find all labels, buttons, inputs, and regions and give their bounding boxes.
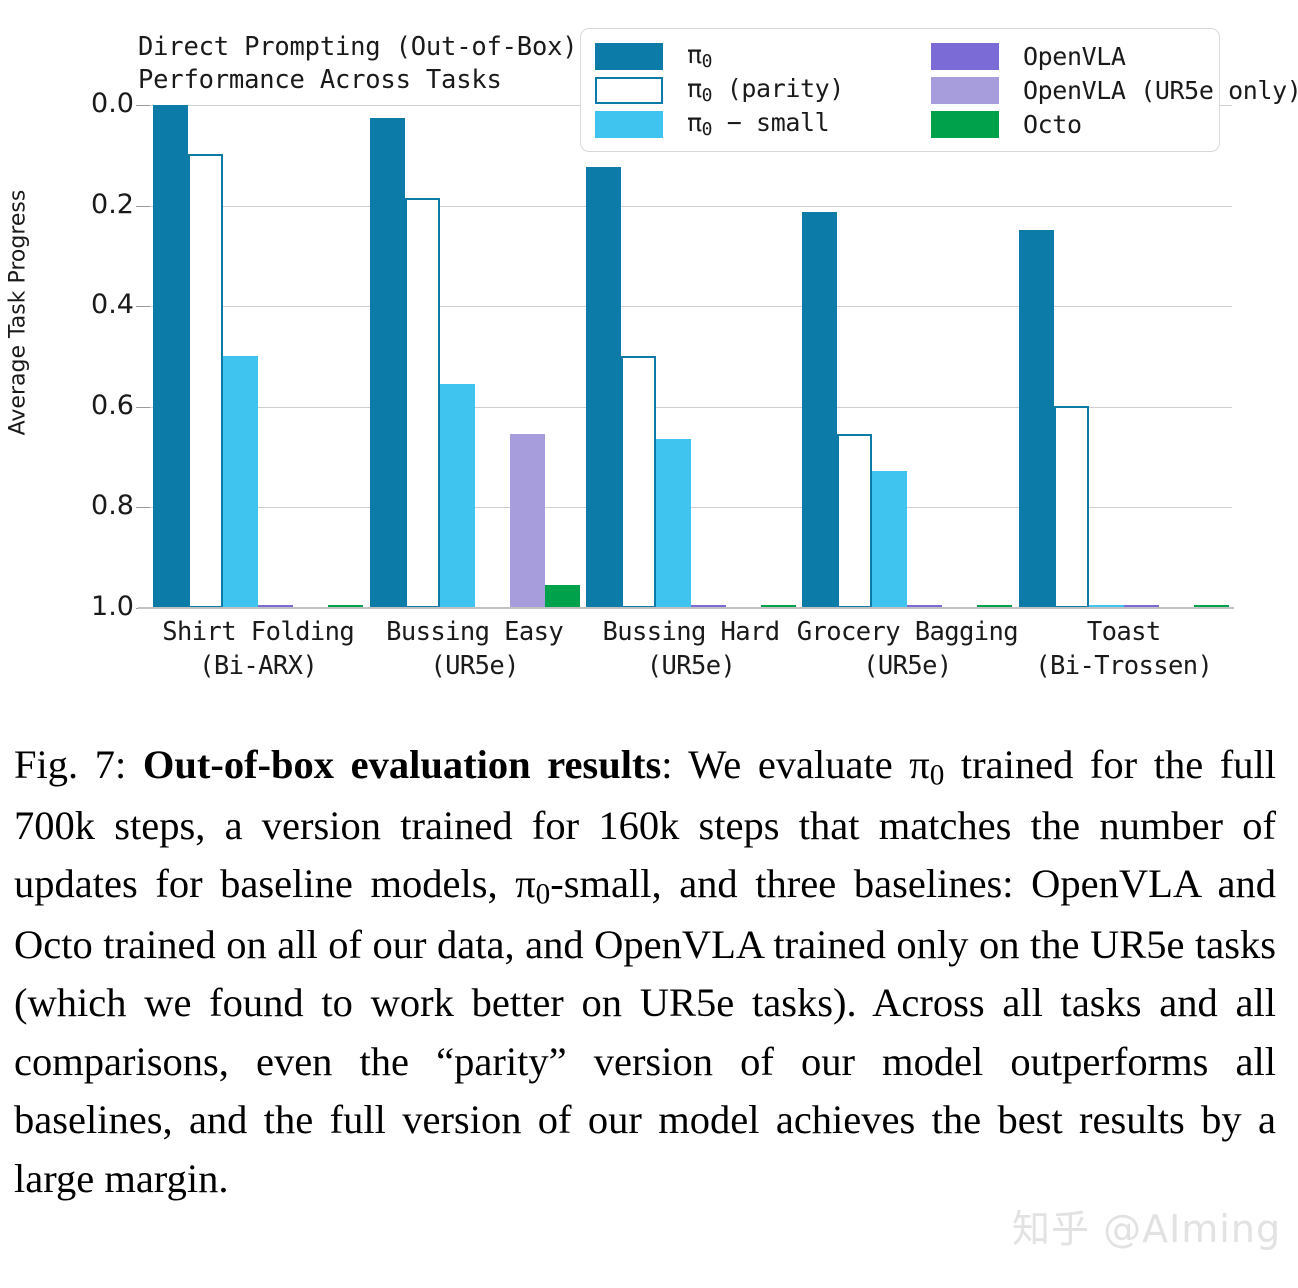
chart-title: Direct Prompting (Out-of-Box) Performanc…: [138, 31, 577, 96]
y-axis-tick-label: 0.6: [24, 390, 134, 421]
y-axis-tick-mark: [136, 105, 150, 106]
legend-label: Octo: [1023, 110, 1298, 139]
bar: [223, 356, 258, 609]
y-axis-tick-mark: [136, 306, 150, 307]
caption-figure-number: Fig. 7:: [14, 742, 126, 787]
bar-chart-figure: Direct Prompting (Out-of-Box) Performanc…: [0, 0, 1298, 705]
caption-bold-lead: Out-of-box evaluation results: [143, 742, 661, 787]
bar: [586, 167, 621, 608]
chart-legend: π0OpenVLAπ0 (parity)OpenVLA (UR5e only)π…: [580, 28, 1220, 152]
bar: [153, 105, 188, 608]
figure-caption: Fig. 7: Out-of-box evaluation results: W…: [14, 736, 1276, 1208]
bar: [405, 198, 440, 608]
legend-label: OpenVLA (UR5e only): [1023, 76, 1298, 105]
y-axis-tick-label: 0.8: [24, 490, 134, 521]
bar: [510, 434, 545, 608]
legend-label: π0 − small: [687, 108, 917, 140]
gridline: [150, 206, 1232, 207]
bar: [188, 154, 223, 608]
legend-swatch: [595, 77, 663, 104]
bar: [440, 384, 475, 608]
y-axis-tick-label: 0.0: [24, 88, 134, 119]
legend-swatch: [931, 77, 999, 104]
bar: [1019, 230, 1054, 608]
bar: [621, 356, 656, 609]
caption-body: : We evaluate π0 trained for the full 70…: [14, 742, 1276, 1201]
legend-swatch: [595, 111, 663, 138]
figure-page: Direct Prompting (Out-of-Box) Performanc…: [0, 0, 1298, 1288]
legend-label: OpenVLA: [1023, 42, 1298, 71]
y-axis-tick-mark: [136, 206, 150, 207]
gridline: [150, 306, 1232, 307]
x-axis-baseline: [138, 607, 1234, 609]
legend-swatch: [931, 43, 999, 70]
y-axis-tick-label: 0.2: [24, 189, 134, 220]
bar: [872, 471, 907, 608]
legend-swatch: [595, 43, 663, 70]
legend-swatch: [931, 111, 999, 138]
bar: [802, 212, 837, 608]
bar: [370, 118, 405, 608]
x-axis-group-label: Toast (Bi-Trossen): [954, 616, 1294, 684]
bar: [837, 434, 872, 608]
y-axis-tick-mark: [136, 407, 150, 408]
legend-label: π0 (parity): [687, 74, 917, 106]
plot-area: [150, 105, 1232, 608]
y-axis-tick-label: 0.4: [24, 289, 134, 320]
y-axis-tick-mark: [136, 507, 150, 508]
bar: [545, 585, 580, 608]
legend-label: π0: [687, 40, 917, 72]
bar: [656, 439, 691, 608]
bar: [1054, 406, 1089, 608]
